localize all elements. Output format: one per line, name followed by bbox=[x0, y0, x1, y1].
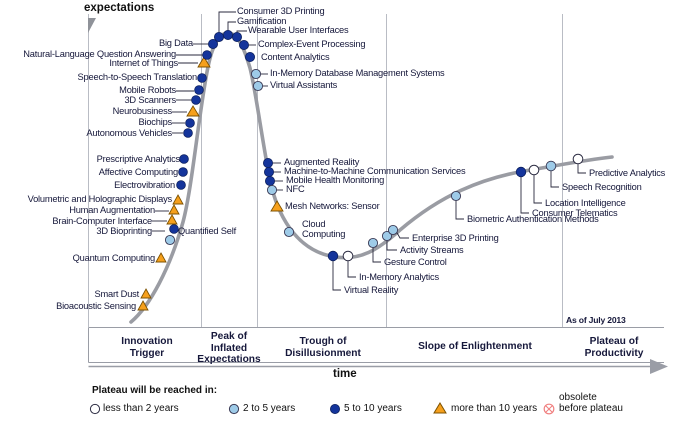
point-label-virtual-assistants: Virtual Assistants bbox=[270, 80, 337, 91]
marker-in-memory-dbms bbox=[251, 69, 260, 78]
point-label-wearable-user-interfaces: Wearable User Interfaces bbox=[248, 25, 348, 36]
point-label-content-analytics: Content Analytics bbox=[261, 52, 329, 63]
point-label-in-memory-dbms: In-Memory Database Management Systems bbox=[270, 68, 444, 79]
marker-quantum-computing bbox=[156, 253, 166, 262]
expectations-axis-arrow bbox=[88, 18, 96, 33]
leader-lines bbox=[152, 12, 586, 290]
marker-biochips bbox=[186, 119, 195, 128]
legend-marker-2-to-5-years bbox=[229, 404, 238, 413]
marker-speech-to-speech-translation bbox=[198, 74, 207, 83]
marker-machine-to-machine-communication-services bbox=[264, 167, 273, 176]
point-label-enterprise-3d-printing: Enterprise 3D Printing bbox=[412, 233, 499, 244]
phase-line-1: Plateau of bbox=[564, 336, 664, 348]
point-label-3d-bioprinting: 3D Bioprinting bbox=[0, 226, 152, 237]
point-label-quantified-self: Quantified Self bbox=[178, 226, 236, 237]
marker-smart-dust bbox=[141, 289, 151, 298]
point-label-in-memory-analytics: In-Memory Analytics bbox=[359, 272, 439, 283]
marker-natural-language-question-answering bbox=[203, 51, 212, 60]
legend-marker-obsolete-before-plateau bbox=[544, 404, 554, 414]
marker-mesh-networks-sensor bbox=[271, 201, 283, 211]
phase-line-3: Expectations bbox=[186, 354, 272, 366]
marker-location-intelligence bbox=[529, 165, 539, 175]
phase-label-trough-of-disillusionment: Trough of Disillusionment bbox=[262, 336, 384, 359]
marker-in-memory-analytics bbox=[343, 251, 353, 261]
marker-cloud-computing bbox=[284, 227, 293, 236]
point-label-cloud-computing-line1: Cloud bbox=[302, 219, 325, 230]
marker-predictive-analytics bbox=[573, 154, 583, 164]
point-label-virtual-reality: Virtual Reality bbox=[344, 285, 398, 296]
marker-prescriptive-analytics bbox=[180, 155, 189, 164]
point-label-smart-dust: Smart Dust bbox=[0, 289, 139, 300]
marker-volumetric-holographic-displays bbox=[173, 195, 183, 204]
marker-mobile-health-monitoring bbox=[265, 176, 274, 185]
marker-3d-scanners bbox=[192, 96, 201, 105]
phase-line-1: Slope of Enlightenment bbox=[388, 341, 562, 353]
marker-consumer-3d-printing bbox=[214, 32, 223, 41]
marker-mobile-robots bbox=[195, 86, 204, 95]
legend-label-5-to-10-years: 5 to 10 years bbox=[344, 403, 402, 414]
point-label-brain-computer-interface: Brain-Computer Interface bbox=[0, 216, 152, 227]
marker-speech-recognition bbox=[546, 161, 556, 171]
marker-autonomous-vehicles bbox=[184, 129, 193, 138]
phase-line-2: Disillusionment bbox=[262, 348, 384, 360]
marker-complex-event-processing bbox=[239, 40, 248, 49]
point-label-consumer-3d-printing: Consumer 3D Printing bbox=[237, 6, 324, 17]
point-label-activity-streams: Activity Streams bbox=[400, 245, 463, 256]
point-label-mesh-networks-sensor: Mesh Networks: Sensor bbox=[285, 201, 379, 212]
marker-gamification bbox=[223, 30, 232, 39]
y-axis-title: expectations bbox=[84, 2, 154, 14]
point-label-affective-computing: Affective Computing bbox=[0, 167, 178, 178]
point-label-internet-of-things: Internet of Things bbox=[0, 58, 178, 69]
point-label-big-data: Big Data bbox=[0, 38, 193, 49]
marker-gesture-control bbox=[368, 238, 377, 247]
point-label-complex-event-processing: Complex-Event Processing bbox=[258, 39, 365, 50]
point-label-electrovibration: Electrovibration bbox=[0, 180, 175, 191]
phase-label-plateau-of-productivity: Plateau of Productivity bbox=[564, 336, 664, 359]
phase-label-slope-of-enlightenment: Slope of Enlightenment bbox=[388, 341, 562, 353]
phase-line-2: Inflated bbox=[186, 343, 272, 355]
phase-line-2: Productivity bbox=[564, 348, 664, 360]
legend-label-obsolete-line1: obsolete bbox=[559, 392, 597, 403]
marker-nfc bbox=[267, 185, 276, 194]
point-label-bioacoustic-sensing: Bioacoustic Sensing bbox=[0, 301, 136, 312]
phase-line-1: Trough of bbox=[262, 336, 384, 348]
marker-virtual-reality bbox=[328, 251, 338, 261]
legend-label-more-than-10-years: more than 10 years bbox=[451, 403, 537, 414]
point-label-nfc: NFC bbox=[286, 184, 305, 195]
marker-wearable-user-interfaces bbox=[232, 32, 241, 41]
point-label-quantum-computing: Quantum Computing bbox=[0, 253, 155, 264]
marker-neurobusiness bbox=[187, 106, 199, 116]
as-of-date: As of July 2013 bbox=[566, 315, 626, 325]
point-label-biochips: Biochips bbox=[0, 117, 172, 128]
legend-marker-less-than-2-years bbox=[90, 404, 99, 413]
marker-brain-computer-interface bbox=[167, 215, 177, 224]
marker-human-augmentation bbox=[169, 205, 179, 214]
marker-virtual-assistants bbox=[253, 81, 262, 90]
time-axis-arrow bbox=[89, 359, 669, 374]
point-label-human-augmentation: Human Augmentation bbox=[0, 205, 155, 216]
point-label-location-intelligence: Location Intelligence bbox=[545, 198, 626, 209]
point-label-volumetric-holographic-displays: Volumetric and Holographic Displays bbox=[0, 194, 172, 205]
point-label-predictive-analytics: Predictive Analytics bbox=[589, 168, 665, 179]
point-label-neurobusiness: Neurobusiness bbox=[0, 106, 172, 117]
point-label-cloud-computing-line2: Computing bbox=[302, 229, 345, 240]
hype-cycle-chart: expectations time As of July 2013 Innova… bbox=[0, 0, 680, 425]
point-label-speech-recognition: Speech Recognition bbox=[562, 182, 642, 193]
point-label-gesture-control: Gesture Control bbox=[384, 257, 447, 268]
legend-marker-more-than-10-years bbox=[434, 403, 446, 413]
marker-augmented-reality bbox=[263, 158, 272, 167]
legend-label-less-than-2-years: less than 2 years bbox=[103, 403, 179, 414]
marker-quantified-self bbox=[165, 235, 174, 244]
phase-label-peak-of-inflated-expectations: Peak of Inflated Expectations bbox=[186, 331, 272, 366]
phase-line-1: Peak of bbox=[186, 331, 272, 343]
legend-title: Plateau will be reached in: bbox=[92, 385, 217, 396]
legend-label-2-to-5-years: 2 to 5 years bbox=[243, 403, 295, 414]
marker-consumer-telematics bbox=[516, 167, 526, 177]
x-axis-title: time bbox=[333, 368, 357, 380]
legend-marker-5-to-10-years bbox=[330, 404, 339, 413]
point-label-consumer-telematics: Consumer Telematics bbox=[532, 208, 617, 219]
marker-affective-computing bbox=[179, 168, 188, 177]
marker-electrovibration bbox=[177, 181, 186, 190]
point-label-3d-scanners: 3D Scanners bbox=[0, 95, 176, 106]
point-label-prescriptive-analytics: Prescriptive Analytics bbox=[0, 154, 180, 165]
marker-content-analytics bbox=[245, 52, 254, 61]
point-label-speech-to-speech-translation: Speech-to-Speech Translation bbox=[0, 72, 197, 83]
marker-enterprise-3d-printing bbox=[388, 225, 397, 234]
point-label-mobile-robots: Mobile Robots bbox=[0, 85, 176, 96]
point-label-autonomous-vehicles: Autonomous Vehicles bbox=[0, 128, 172, 139]
marker-biometric-authentication-methods bbox=[451, 191, 460, 200]
legend-label-obsolete-line2: before plateau bbox=[559, 403, 623, 414]
